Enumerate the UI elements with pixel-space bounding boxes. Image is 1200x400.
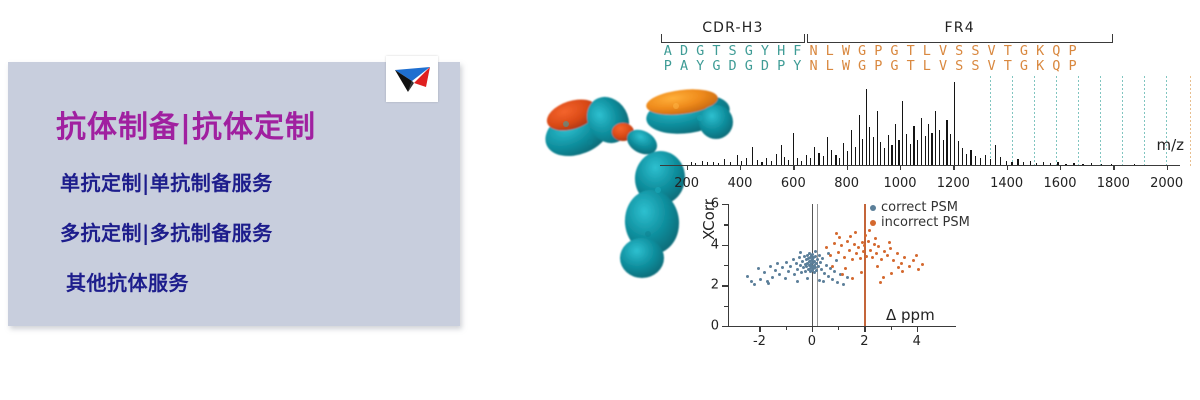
- residue: S: [968, 59, 984, 74]
- scatter-point: [753, 283, 756, 286]
- scatter-point: [823, 272, 826, 275]
- scatter-point: [874, 237, 877, 240]
- threshold-line: [864, 204, 865, 326]
- residue: W: [838, 44, 854, 59]
- scatter-point: [875, 252, 878, 255]
- scatter-point: [799, 251, 802, 254]
- spectrum-peak: [958, 141, 959, 166]
- spectrum-peak: [931, 133, 932, 166]
- spectrum-tick-label: 1800: [1097, 176, 1130, 191]
- residue: Y: [790, 59, 806, 74]
- scatter-point: [851, 277, 854, 280]
- spectrum-tick-label: 400: [728, 176, 753, 191]
- residue: S: [951, 44, 967, 59]
- scatter-point: [853, 243, 856, 246]
- scatter-point: [836, 281, 839, 284]
- mz-axis-label: m/z: [1156, 136, 1184, 154]
- promo-link-monoclonal[interactable]: 单抗定制|单抗制备服务: [60, 167, 273, 196]
- scatter-point: [785, 261, 788, 264]
- spectrum-peak: [943, 140, 944, 166]
- scatter-point: [778, 273, 781, 276]
- scatter-point: [843, 256, 846, 259]
- scatter-point: [818, 279, 821, 282]
- residue: V: [935, 44, 951, 59]
- spectrum-peak: [906, 134, 907, 166]
- residue: Q: [1049, 44, 1065, 59]
- spectrum-peak: [884, 148, 885, 166]
- scatter-y-tick-label: 0: [711, 319, 719, 334]
- scatter-point: [818, 254, 821, 257]
- spectrum-tick: [1167, 166, 1168, 170]
- scatter-point: [833, 242, 836, 245]
- psm-scatter-chart: XCorr Δ ppm 0246 -2024 correct PSMincorr…: [690, 196, 960, 361]
- scatter-point: [860, 271, 863, 274]
- scatter-point: [841, 273, 844, 276]
- scatter-point: [869, 249, 872, 252]
- spectrum-peak: [928, 124, 929, 166]
- residue: S: [968, 44, 984, 59]
- residue: S: [951, 59, 967, 74]
- scatter-point: [851, 258, 854, 261]
- scatter-point: [798, 256, 801, 259]
- spectrum-peak: [851, 130, 852, 166]
- residue: H: [773, 44, 789, 59]
- legend-item: correct PSM: [870, 200, 970, 215]
- residue: Q: [1049, 59, 1065, 74]
- scatter-point: [871, 256, 874, 259]
- spectrum-peak: [917, 140, 918, 166]
- residue: G: [709, 59, 725, 74]
- residue: W: [838, 59, 854, 74]
- spectrum-tick: [953, 166, 954, 170]
- spectrum-peak: [950, 134, 951, 166]
- domain-label: CDR-H3: [702, 20, 763, 36]
- scatter-point: [746, 275, 749, 278]
- scatter-point: [917, 268, 920, 271]
- residue: L: [919, 44, 935, 59]
- scatter-point: [819, 261, 822, 264]
- residue: T: [903, 44, 919, 59]
- residue: G: [887, 59, 903, 74]
- spectrum-tick: [687, 166, 688, 170]
- legend-item: incorrect PSM: [870, 215, 970, 230]
- scatter-point: [879, 281, 882, 284]
- scatter-point: [750, 280, 753, 283]
- spectrum-peak: [939, 130, 940, 166]
- scatter-y-tick-label: 6: [711, 197, 719, 212]
- spectrum-tick: [1060, 166, 1061, 170]
- legend-dot: [870, 205, 876, 211]
- scatter-point: [840, 244, 843, 247]
- residue: N: [806, 59, 822, 74]
- scatter-point: [915, 254, 918, 257]
- spectrum-peak: [866, 89, 867, 166]
- residue: Y: [757, 44, 773, 59]
- scatter-y-tick: 2: [722, 285, 728, 286]
- scatter-point: [846, 240, 849, 243]
- spectrum-peak: [855, 147, 856, 166]
- scatter-point: [896, 252, 899, 255]
- residue: G: [692, 44, 708, 59]
- scatter-y-tick-label: 2: [711, 278, 719, 293]
- scatter-point: [873, 243, 876, 246]
- scatter-point: [849, 235, 852, 238]
- spectrum-peak: [925, 136, 926, 166]
- spectrum-peak: [880, 142, 881, 166]
- spectrum-tick-label: 1400: [990, 176, 1023, 191]
- spectrum-peak: [873, 137, 874, 166]
- residue: P: [870, 59, 886, 74]
- scatter-point: [801, 260, 804, 263]
- residue: A: [660, 44, 676, 59]
- sequence-alignment: CDR-H3FR4 ADGTSGYHFNLWGPGTLVSSVTGKQP PAY…: [660, 22, 1180, 74]
- scatter-point: [867, 240, 870, 243]
- spectrum-x-axis: [660, 165, 1180, 166]
- residue: P: [660, 59, 676, 74]
- scatter-point: [821, 257, 824, 260]
- scatter-y-tick: 0: [722, 326, 728, 327]
- spectrum-tick: [1007, 166, 1008, 170]
- scatter-x-tick: [812, 326, 813, 332]
- scatter-x-minor-tick: [891, 326, 892, 330]
- scatter-point: [837, 251, 840, 254]
- scatter-point: [825, 246, 828, 249]
- residue: P: [1065, 59, 1081, 74]
- scatter-point: [806, 277, 809, 280]
- spectrum-peak: [869, 127, 870, 166]
- scatter-point: [763, 271, 766, 274]
- scatter-point: [820, 268, 823, 271]
- scatter-y-tick: 4: [722, 245, 728, 246]
- scatter-point: [882, 276, 885, 279]
- scatter-x-minor-tick: [786, 326, 787, 330]
- scatter-x-minor-tick: [838, 326, 839, 330]
- residue: D: [725, 59, 741, 74]
- scatter-point: [825, 264, 828, 267]
- scatter-point: [903, 256, 906, 259]
- screenshot-root: 抗体制备|抗体定制 单抗定制|单抗制备服务 多抗定制|多抗制备服务 其他抗体服务: [0, 0, 1200, 400]
- scatter-x-tick-label: 2: [860, 334, 868, 349]
- scatter-point: [767, 282, 770, 285]
- spectrum-tick-label: 800: [834, 176, 859, 191]
- scatter-point: [831, 265, 834, 268]
- domain-label: FR4: [945, 20, 975, 36]
- scatter-point: [769, 265, 772, 268]
- residue: N: [806, 44, 822, 59]
- scatter-y-tick: 6: [722, 204, 728, 205]
- scatter-point: [795, 262, 798, 265]
- scatter-point: [817, 265, 820, 268]
- scatter-point: [844, 267, 847, 270]
- scatter-x-tick: [864, 326, 865, 332]
- spectrum-peak: [891, 145, 892, 166]
- scatter-point: [759, 278, 762, 281]
- scatter-point: [792, 258, 795, 261]
- scatter-point: [859, 257, 862, 260]
- residue: L: [822, 59, 838, 74]
- sequence-row-bottom: PAYGDGDPYNLWGPGTLVSSVTGKQP: [660, 59, 1180, 74]
- scatter-y-minor-tick: [724, 265, 728, 266]
- scatter-point: [863, 244, 866, 247]
- promo-title: 抗体制备|抗体定制: [56, 102, 316, 146]
- scatter-point: [890, 272, 893, 275]
- residue: G: [741, 59, 757, 74]
- promo-link-polyclonal[interactable]: 多抗定制|多抗制备服务: [60, 217, 273, 246]
- scatter-x-tick: [917, 326, 918, 332]
- scatter-point: [876, 265, 879, 268]
- scatter-point: [886, 254, 889, 257]
- legend-dot: [870, 220, 876, 226]
- scatter-point: [835, 232, 838, 235]
- residue: F: [790, 44, 806, 59]
- spectrum-peak: [877, 111, 878, 166]
- residue: T: [1000, 59, 1016, 74]
- spectrum-peak: [793, 133, 794, 166]
- residue: K: [1032, 59, 1048, 74]
- scatter-point: [908, 265, 911, 268]
- mass-spectrum-chart: 200400600800100012001400160018002000 m/z: [660, 76, 1180, 172]
- spectrum-tick-label: 200: [674, 176, 699, 191]
- residue: G: [887, 44, 903, 59]
- proteomics-figure: CDR-H3FR4 ADGTSGYHFNLWGPGTLVSSVTGKQP PAY…: [520, 0, 1200, 400]
- scatter-point: [888, 241, 891, 244]
- residue: V: [984, 59, 1000, 74]
- spectrum-peak: [898, 140, 899, 166]
- scatter-legend: correct PSMincorrect PSM: [870, 200, 970, 230]
- residue: D: [676, 44, 692, 59]
- scatter-point: [771, 276, 774, 279]
- spectrum-peak: [862, 139, 863, 166]
- scatter-point: [889, 247, 892, 250]
- scatter-point: [846, 276, 849, 279]
- spectrum-peak: [910, 144, 911, 166]
- scatter-point: [892, 259, 895, 262]
- scatter-point: [855, 252, 858, 255]
- spectrum-tick-label: 600: [781, 176, 806, 191]
- residue: K: [1032, 44, 1048, 59]
- spectrum-peak: [814, 147, 815, 166]
- scatter-x-tick-label: 4: [913, 334, 921, 349]
- spectrum-tick-label: 1200: [937, 176, 970, 191]
- scatter-point: [796, 280, 799, 283]
- residue: G: [741, 44, 757, 59]
- scatter-point: [864, 234, 867, 237]
- spectrum-tick-label: 1000: [883, 176, 916, 191]
- scatter-y-minor-tick: [724, 224, 728, 225]
- scatter-point: [829, 254, 832, 257]
- scatter-x-tick-label: -2: [753, 334, 766, 349]
- scatter-point: [835, 259, 838, 262]
- scatter-point: [787, 270, 790, 273]
- residue: L: [822, 44, 838, 59]
- scatter-x-tick-label: 0: [808, 334, 816, 349]
- residue: V: [984, 44, 1000, 59]
- spectrum-peak: [843, 143, 844, 166]
- scatter-x-axis: [728, 326, 956, 327]
- scatter-point: [800, 271, 803, 274]
- company-chevron-logo: [386, 56, 438, 102]
- spectrum-tick: [740, 166, 741, 170]
- residue: P: [870, 44, 886, 59]
- spectrum-peak: [946, 120, 947, 166]
- scatter-point: [921, 263, 924, 266]
- scatter-point: [865, 255, 868, 258]
- scatter-point: [912, 259, 915, 262]
- spectrum-tick: [1113, 166, 1114, 170]
- scatter-point: [842, 283, 845, 286]
- residue: T: [709, 44, 725, 59]
- scatter-y-tick-label: 4: [711, 237, 719, 252]
- sequence-row-top: ADGTSGYHFNLWGPGTLVSSVTGKQP: [660, 44, 1180, 59]
- scatter-point: [848, 249, 851, 252]
- spectrum-peak: [888, 135, 889, 166]
- residue: G: [1016, 44, 1032, 59]
- residue: G: [854, 44, 870, 59]
- spectrum-tick-label: 2000: [1150, 176, 1183, 191]
- scatter-point: [793, 273, 796, 276]
- scatter-point: [757, 267, 760, 270]
- scatter-point: [789, 265, 792, 268]
- spectrum-peak: [995, 145, 996, 166]
- residue: P: [1065, 44, 1081, 59]
- spectrum-peak: [752, 147, 753, 166]
- residue: L: [919, 59, 935, 74]
- scatter-point: [877, 245, 880, 248]
- scatter-x-tick: [759, 326, 760, 332]
- spectrum-tick: [900, 166, 901, 170]
- scatter-point: [831, 278, 834, 281]
- residue: A: [676, 59, 692, 74]
- spectrum-peaks: [660, 78, 1180, 166]
- spectrum-peak: [921, 118, 922, 166]
- spectrum-peak: [913, 126, 914, 166]
- scatter-point: [827, 275, 830, 278]
- residue: V: [935, 59, 951, 74]
- domain-bars: CDR-H3FR4: [660, 22, 1180, 44]
- spectrum-peak: [902, 101, 903, 166]
- legend-label: incorrect PSM: [881, 215, 970, 230]
- residue: Y: [692, 59, 708, 74]
- residue: G: [1016, 59, 1032, 74]
- scatter-point: [900, 262, 903, 265]
- scatter-point: [838, 236, 841, 239]
- residue: T: [903, 59, 919, 74]
- spectrum-peak: [781, 145, 782, 166]
- scatter-point: [776, 262, 779, 265]
- spectrum-peak: [859, 115, 860, 166]
- spectrum-tick: [793, 166, 794, 170]
- spectrum-peak: [935, 111, 936, 166]
- spectrum-tick-label: 1600: [1043, 176, 1076, 191]
- scatter-point: [880, 258, 883, 261]
- residue: S: [725, 44, 741, 59]
- scatter-point: [883, 250, 886, 253]
- spectrum-peak: [962, 148, 963, 166]
- ion-guide-line: [1190, 76, 1191, 166]
- scatter-point: [774, 269, 777, 272]
- company-logo[interactable]: [386, 56, 438, 102]
- scatter-point: [833, 270, 836, 273]
- spectrum-peak: [954, 82, 955, 166]
- scatter-point: [822, 280, 825, 283]
- spectrum-peak: [827, 137, 828, 166]
- legend-label: correct PSM: [881, 200, 958, 215]
- scatter-point: [796, 268, 799, 271]
- spectrum-tick: [847, 166, 848, 170]
- scatter-point: [897, 266, 900, 269]
- scatter-point: [857, 246, 860, 249]
- scatter-point: [901, 270, 904, 273]
- residue: G: [854, 59, 870, 74]
- scatter-point: [784, 277, 787, 280]
- scatter-y-minor-tick: [724, 306, 728, 307]
- residue: T: [1000, 44, 1016, 59]
- residue: D: [757, 59, 773, 74]
- scatter-point: [781, 266, 784, 269]
- residue: P: [773, 59, 789, 74]
- scatter-point: [854, 231, 857, 234]
- spectrum-peak: [895, 124, 896, 166]
- promo-link-other[interactable]: 其他抗体服务: [66, 267, 189, 296]
